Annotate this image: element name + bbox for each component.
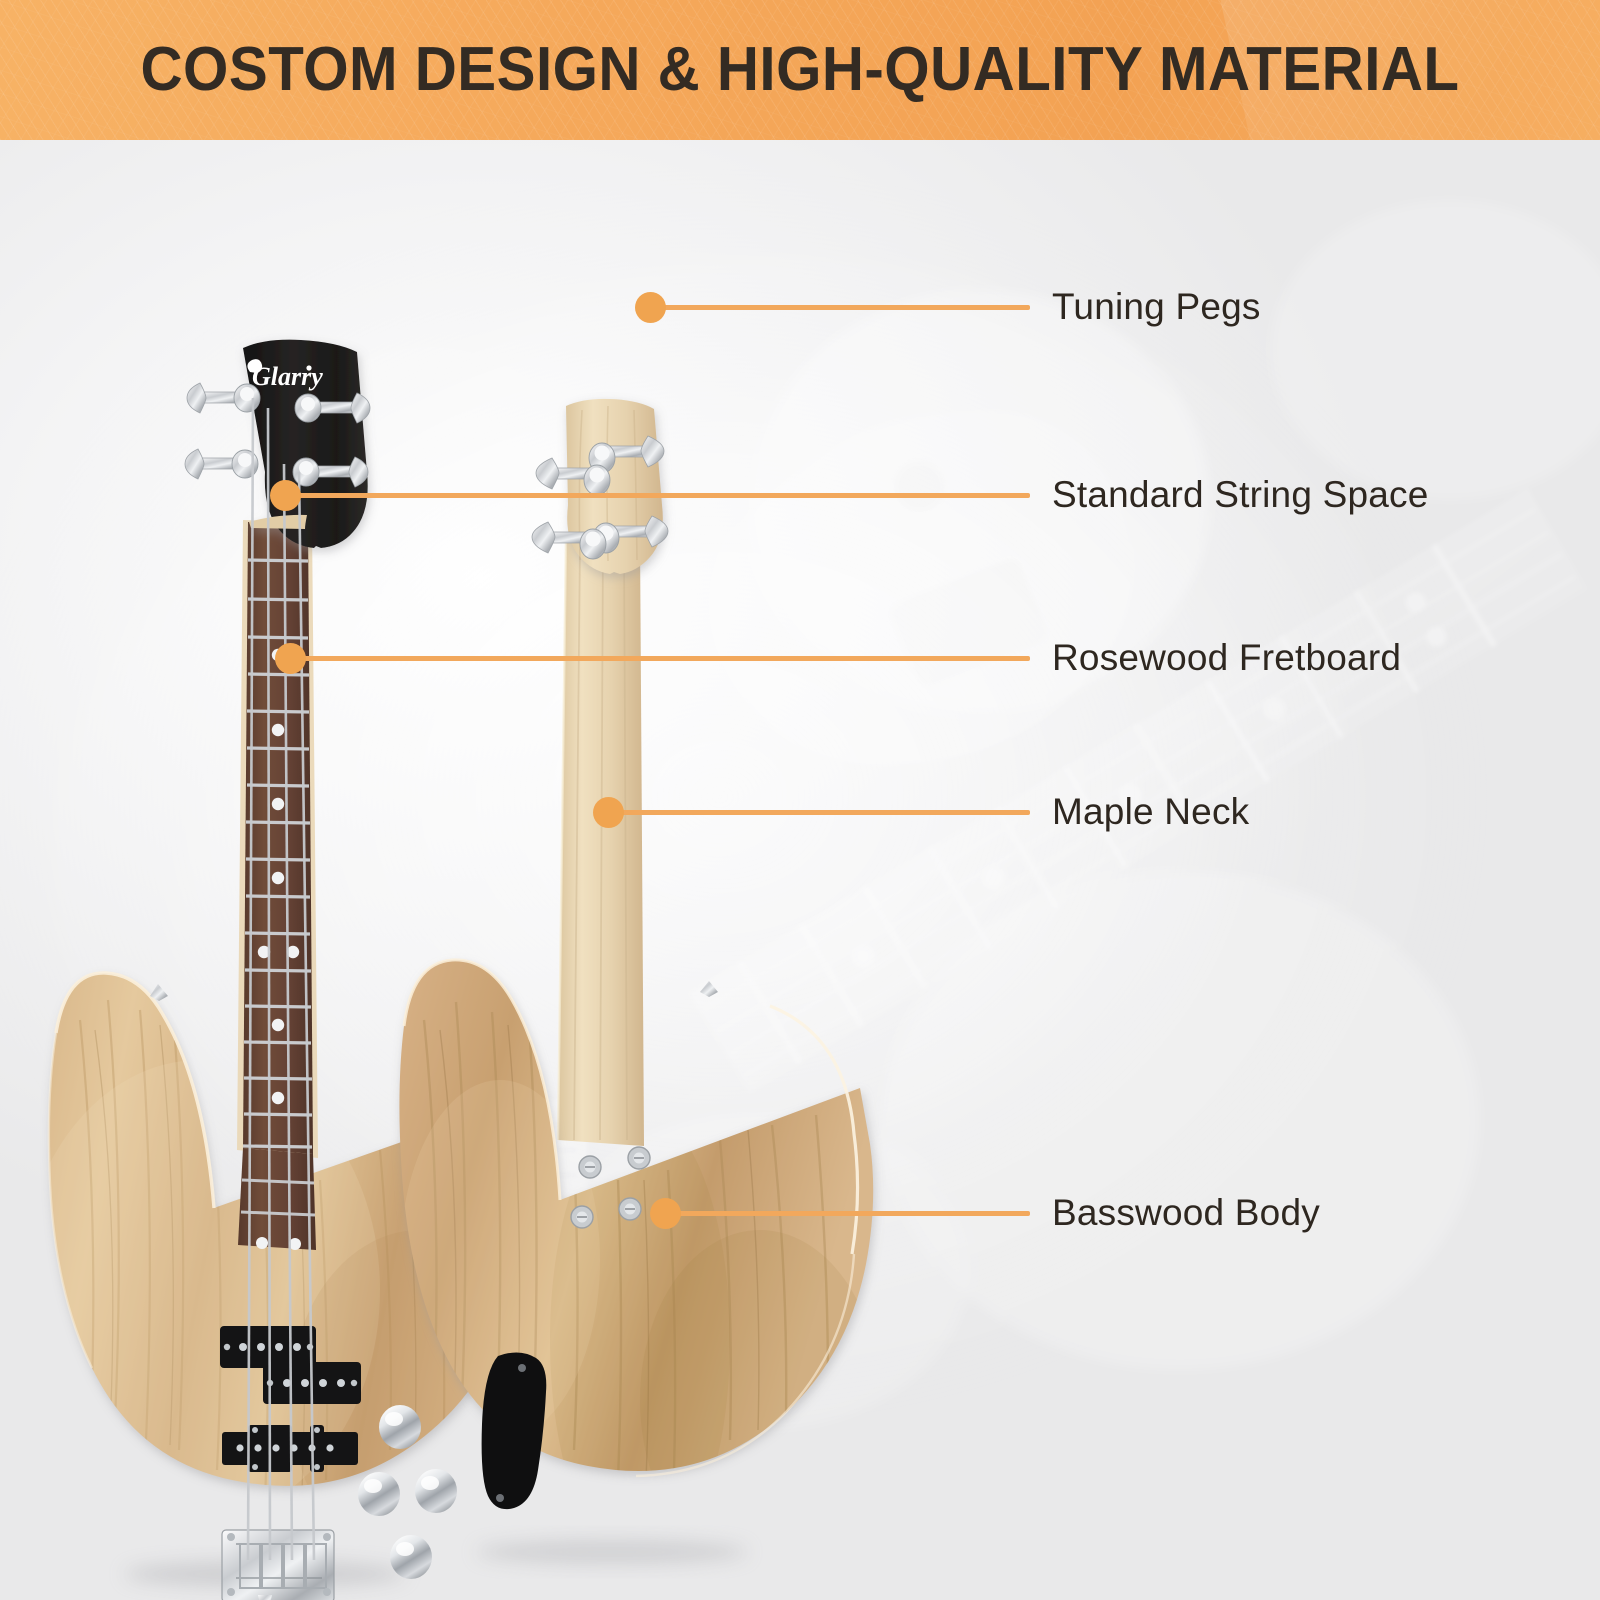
- leader-line-rosewood-fretboard: [290, 656, 1030, 661]
- callout-dot-rosewood-fretboard: [275, 643, 306, 674]
- leader-line-standard-string-space: [285, 493, 1030, 498]
- bridge: [222, 1530, 334, 1600]
- guitar-illustrations: Glarry: [0, 140, 1600, 1600]
- brand-logo: Glarry: [247, 359, 323, 391]
- leader-line-maple-neck: [608, 810, 1030, 815]
- leader-line-tuning-pegs: [650, 305, 1030, 310]
- page-title: COSTOM DESIGN & HIGH-QUALITY MATERIAL: [48, 34, 1552, 105]
- callout-dot-standard-string-space: [270, 480, 301, 511]
- callout-label-tuning-pegs: Tuning Pegs: [1052, 286, 1261, 328]
- svg-text:Glarry: Glarry: [252, 362, 323, 391]
- callout-dot-tuning-pegs: [635, 292, 666, 323]
- callout-dot-basswood-body: [650, 1198, 681, 1229]
- product-infographic: COSTOM DESIGN & HIGH-QUALITY MATERIAL: [0, 0, 1600, 1600]
- product-stage: Glarry: [0, 140, 1600, 1600]
- callout-dot-maple-neck: [593, 797, 624, 828]
- header-banner: COSTOM DESIGN & HIGH-QUALITY MATERIAL: [0, 0, 1600, 140]
- control-cavity-cover: [482, 1352, 547, 1509]
- back-bass-guitar: [399, 399, 880, 1600]
- callout-label-standard-string-space: Standard String Space: [1052, 474, 1429, 516]
- callout-label-basswood-body: Basswood Body: [1052, 1192, 1320, 1234]
- callout-label-rosewood-fretboard: Rosewood Fretboard: [1052, 637, 1401, 679]
- leader-line-basswood-body: [665, 1211, 1030, 1216]
- callout-label-maple-neck: Maple Neck: [1052, 791, 1249, 833]
